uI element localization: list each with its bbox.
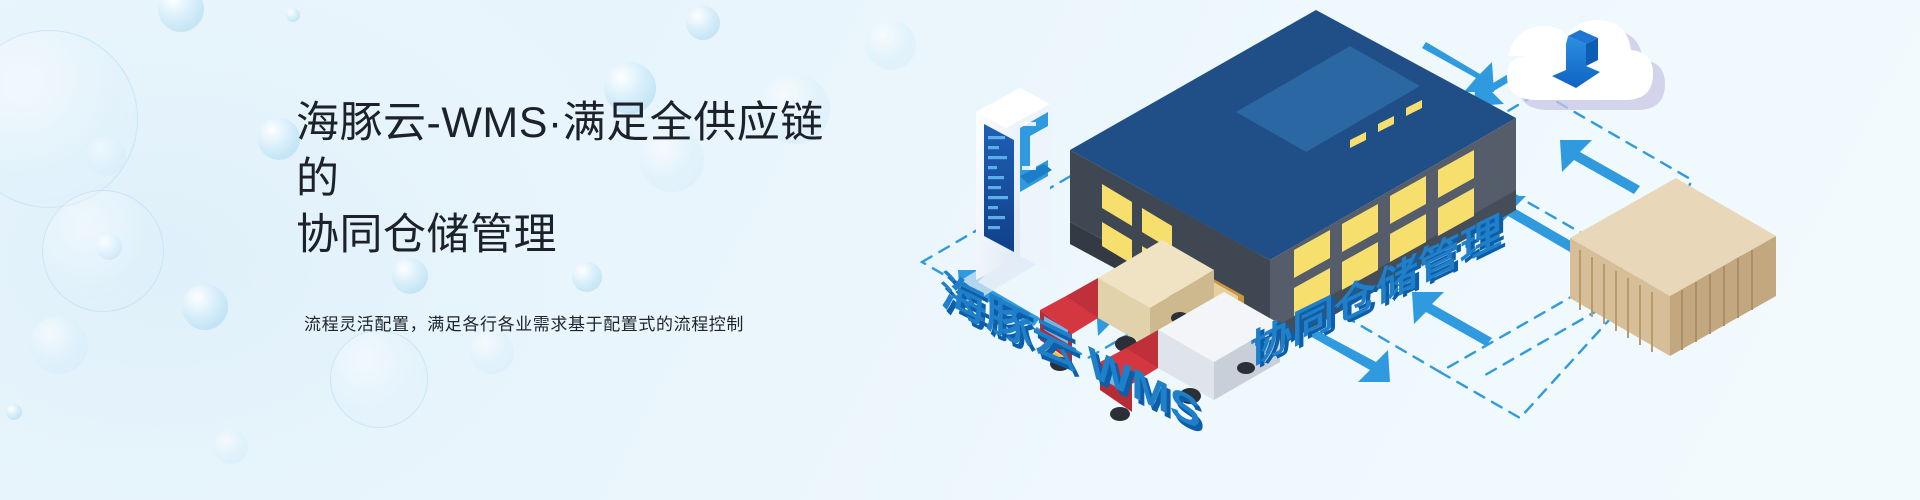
decor-bubble bbox=[96, 234, 122, 260]
decor-ring bbox=[42, 190, 164, 312]
illustration-label-left: 海豚云 海豚云 bbox=[940, 264, 1082, 385]
decor-bubble bbox=[470, 330, 514, 374]
decor-ring bbox=[330, 330, 428, 428]
decor-bubble bbox=[214, 430, 248, 464]
decor-bubble bbox=[86, 136, 126, 176]
decor-ring bbox=[0, 30, 138, 208]
cloud-download-icon bbox=[1507, 20, 1665, 110]
hero-banner: 海豚云-WMS·满足全供应链的 协同仓储管理 流程灵活配置，满足各行各业需求基于… bbox=[0, 0, 1920, 500]
hero-illustration: 海豚云 海豚云 WMS WMS 协同仓储管理 协同仓储管理 bbox=[880, 0, 1920, 500]
decor-bubble bbox=[6, 404, 22, 420]
decor-bubble bbox=[158, 0, 204, 32]
shipping-container bbox=[1570, 178, 1776, 356]
decor-bubble bbox=[286, 8, 300, 22]
label-left-text: 海豚云 bbox=[940, 264, 1078, 379]
hero-copy: 海豚云-WMS·满足全供应链的 协同仓储管理 流程灵活配置，满足各行各业需求基于… bbox=[296, 96, 856, 335]
decor-bubble bbox=[30, 316, 88, 374]
decor-bubble bbox=[686, 6, 720, 40]
page-subtitle: 流程灵活配置，满足各行各业需求基于配置式的流程控制 bbox=[304, 310, 856, 335]
server-rack-icon bbox=[958, 88, 1052, 296]
decor-bubble bbox=[182, 284, 228, 330]
page-title: 海豚云-WMS·满足全供应链的 协同仓储管理 bbox=[296, 96, 856, 264]
decor-bubble bbox=[258, 118, 300, 160]
